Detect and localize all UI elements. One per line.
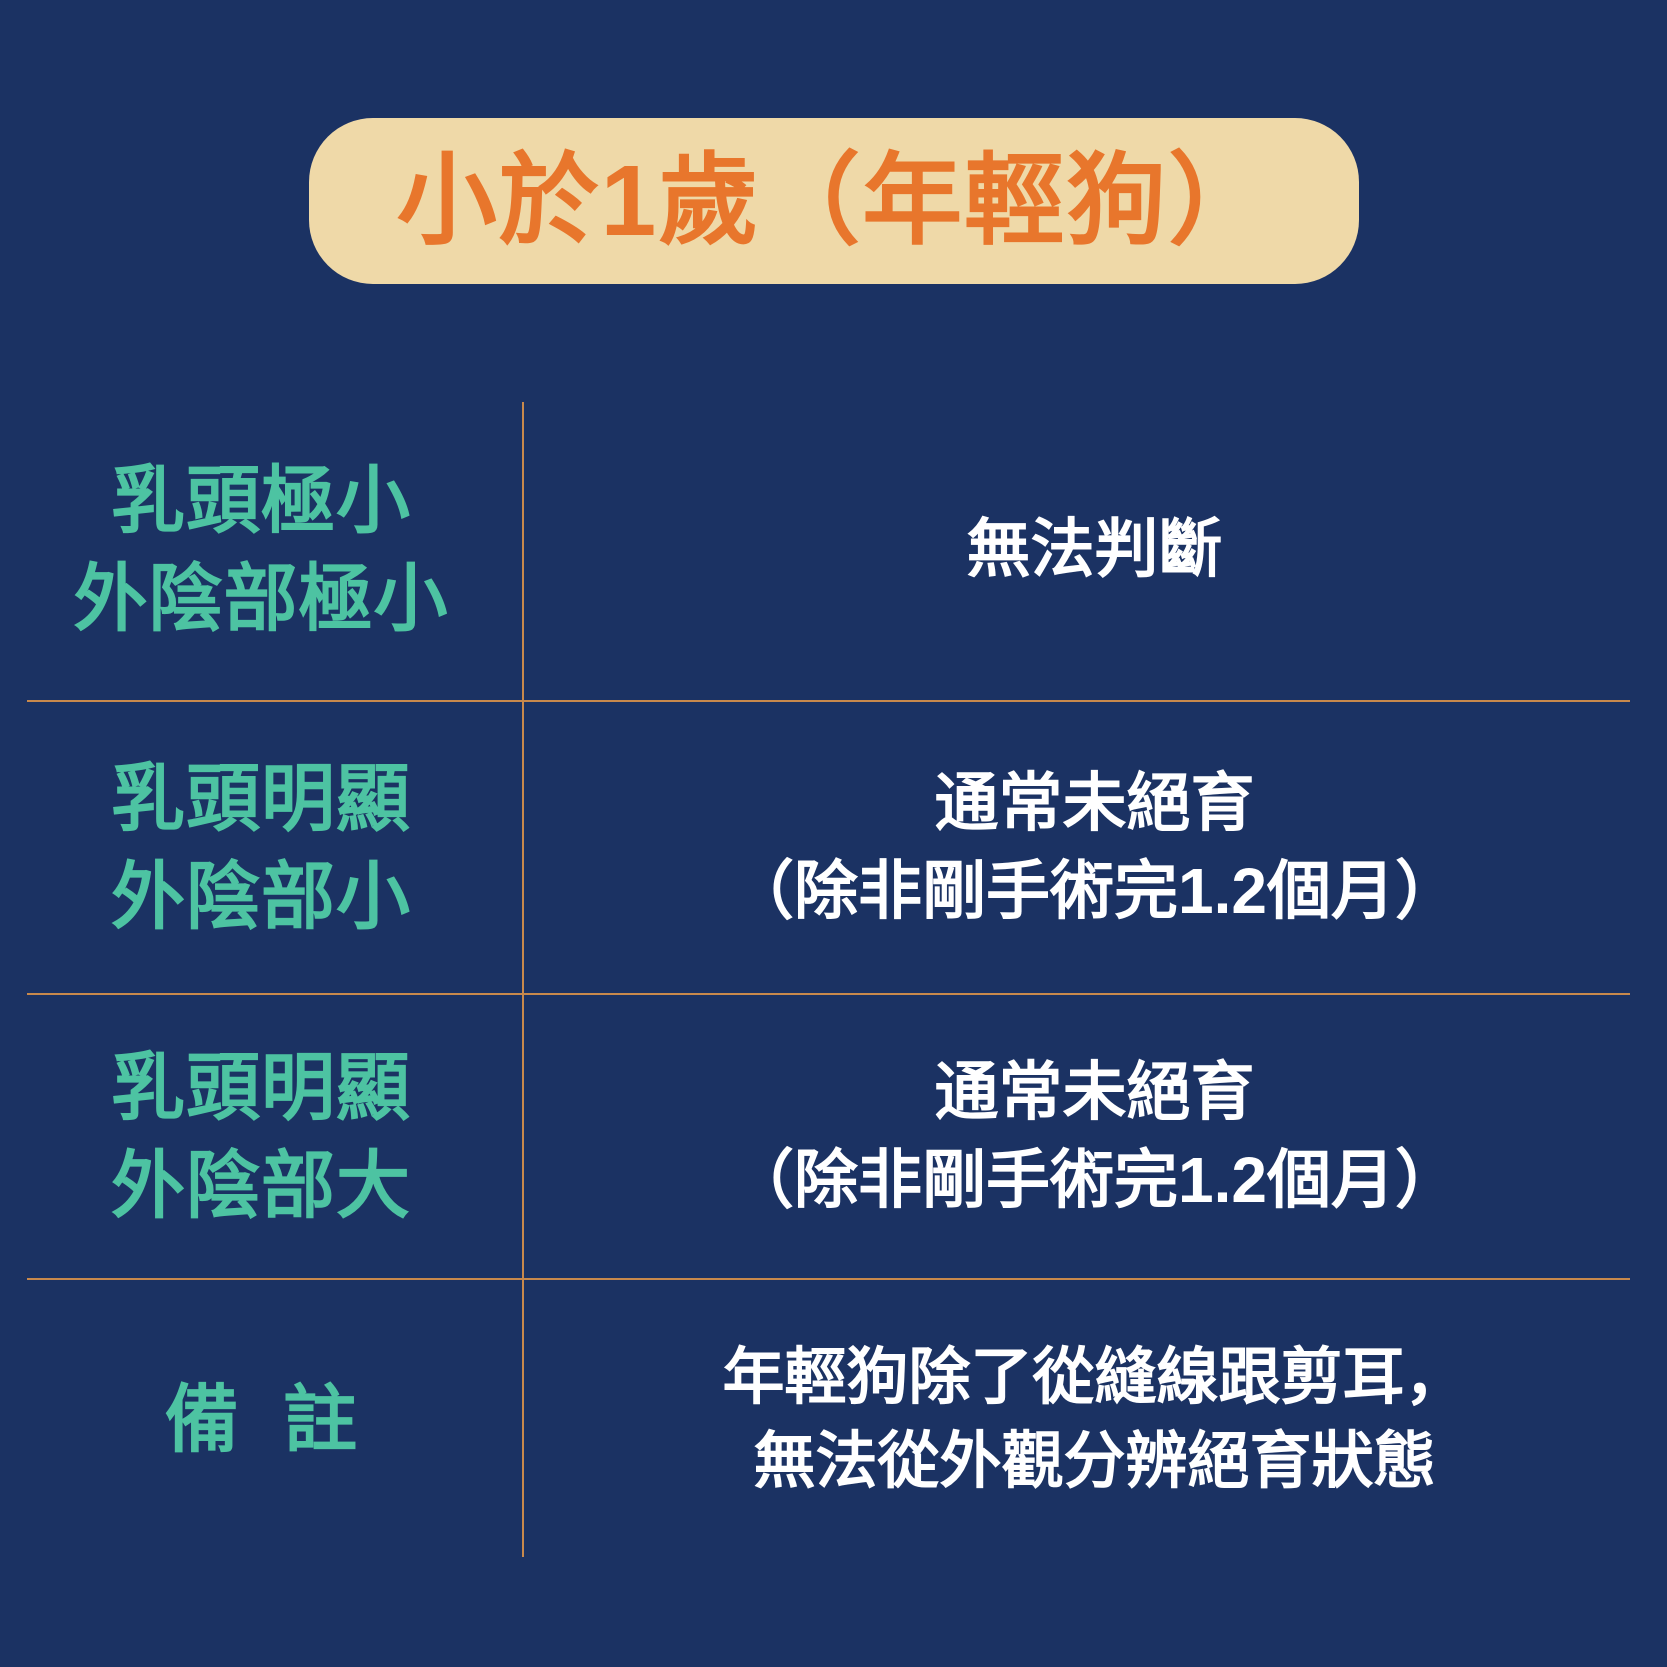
note-label: 備 註 <box>153 1371 370 1469</box>
row-2-trait-line-1: 乳頭明顯 <box>111 750 411 848</box>
note-text-cell: 年輕狗除了從縫線跟剪耳， 無法從外觀分辨絕育狀態 <box>522 1336 1667 1505</box>
title-box: 小於1歲（年輕狗） <box>309 118 1359 284</box>
note-text-line-1: 年輕狗除了從縫線跟剪耳， <box>722 1336 1466 1420</box>
row-3-trait-line-1: 乳頭明顯 <box>111 1039 411 1137</box>
table-row: 乳頭明顯 外陰部大 通常未絕育 （除非剛手術完1.2個月） <box>0 995 1667 1278</box>
row-3-trait-line-2: 外陰部大 <box>111 1137 411 1235</box>
comparison-table: 乳頭極小 外陰部極小 無法判斷 乳頭明顯 外陰部小 通常未絕育 （除非剛手術完1… <box>0 400 1667 1560</box>
note-text-line-2: 無法從外觀分辨絕育狀態 <box>753 1420 1435 1504</box>
row-3-conclusion-line-1: 通常未絕育 <box>935 1049 1255 1136</box>
row-1-trait-cell: 乳頭極小 外陰部極小 <box>0 452 522 647</box>
row-1-conclusion-cell: 無法判斷 <box>522 506 1667 593</box>
note-label-cell: 備 註 <box>0 1371 522 1469</box>
row-2-conclusion-line-2: （除非剛手術完1.2個月） <box>730 848 1459 935</box>
row-2-trait-cell: 乳頭明顯 外陰部小 <box>0 750 522 945</box>
row-3-trait-cell: 乳頭明顯 外陰部大 <box>0 1039 522 1234</box>
row-2-conclusion-cell: 通常未絕育 （除非剛手術完1.2個月） <box>522 760 1667 934</box>
table-row: 備 註 年輕狗除了從縫線跟剪耳， 無法從外觀分辨絕育狀態 <box>0 1280 1667 1560</box>
table-row: 乳頭明顯 外陰部小 通常未絕育 （除非剛手術完1.2個月） <box>0 702 1667 993</box>
row-1-conclusion-line-1: 無法判斷 <box>967 506 1223 593</box>
row-3-conclusion-cell: 通常未絕育 （除非剛手術完1.2個月） <box>522 1049 1667 1223</box>
table-row: 乳頭極小 外陰部極小 無法判斷 <box>0 400 1667 700</box>
page-title: 小於1歲（年輕狗） <box>397 151 1271 251</box>
row-2-trait-line-2: 外陰部小 <box>111 848 411 946</box>
row-1-trait-line-1: 乳頭極小 <box>111 452 411 550</box>
row-1-trait-line-2: 外陰部極小 <box>74 550 449 648</box>
row-3-conclusion-line-2: （除非剛手術完1.2個月） <box>730 1137 1459 1224</box>
title-banner: 小於1歲（年輕狗） <box>0 118 1667 284</box>
row-2-conclusion-line-1: 通常未絕育 <box>935 760 1255 847</box>
